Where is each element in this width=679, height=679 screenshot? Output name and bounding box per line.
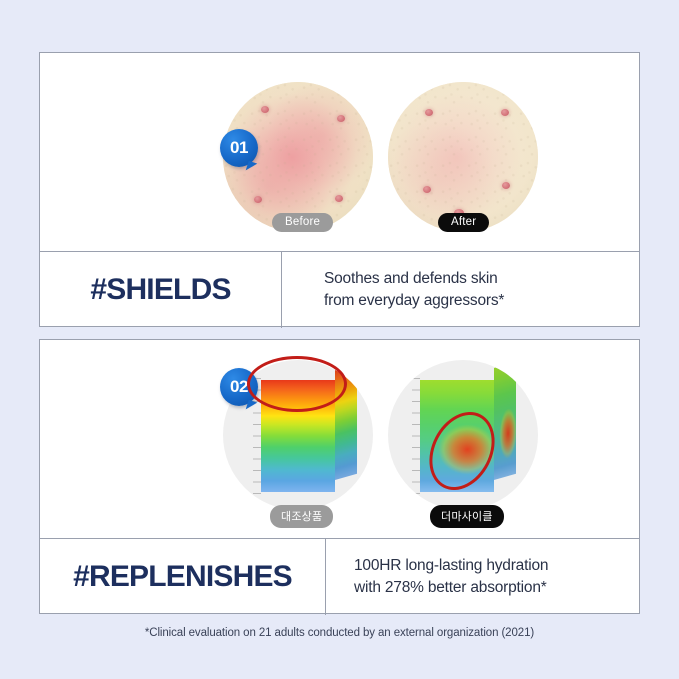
shields-description-cell: Soothes and defends skin from everyday a… xyxy=(282,252,639,328)
annotation-ellipse-control xyxy=(247,356,347,412)
replenishes-text-band: #REPLENISHES 100HR long-lasting hydratio… xyxy=(40,538,639,615)
skin-bump xyxy=(425,109,433,116)
shields-description-line2: from everyday aggressors* xyxy=(324,292,504,309)
shields-visual-area: 01 Before After xyxy=(40,53,639,251)
skin-bump xyxy=(502,182,510,189)
replenishes-hashtag-cell: #REPLENISHES xyxy=(40,539,326,615)
skin-photo-after xyxy=(388,82,538,232)
heat-box-side-face xyxy=(494,362,516,480)
thermal-axis-ticks-derma xyxy=(412,378,420,494)
replenishes-visual-area: 02 대조상품 xyxy=(40,340,639,538)
skin-bump xyxy=(337,115,345,122)
skin-bump xyxy=(423,186,431,193)
panel-replenishes: 02 대조상품 xyxy=(39,339,640,614)
image-label-control-product: 대조상품 xyxy=(270,505,333,528)
infographic-page: 01 Before After xyxy=(0,0,679,679)
skin-bump xyxy=(335,195,343,202)
shields-description: Soothes and defends skin from everyday a… xyxy=(324,268,504,312)
skin-bump xyxy=(501,109,509,116)
hashtag-replenishes: #REPLENISHES xyxy=(73,560,292,594)
replenishes-description: 100HR long-lasting hydration with 278% b… xyxy=(354,555,548,599)
image-label-before: Before xyxy=(272,213,333,232)
skin-bump xyxy=(254,196,262,203)
shields-hashtag-cell: #SHIELDS xyxy=(40,252,282,328)
replenishes-description-line1: 100HR long-lasting hydration xyxy=(354,557,548,574)
step-badge-01: 01 xyxy=(220,129,258,167)
shields-description-line1: Soothes and defends skin xyxy=(324,270,498,287)
clinical-footnote: *Clinical evaluation on 21 adults conduc… xyxy=(0,627,679,639)
replenishes-description-line2: with 278% better absorption* xyxy=(354,579,547,596)
thermal-image-derma xyxy=(388,360,538,510)
hashtag-shields: #SHIELDS xyxy=(90,273,230,307)
panel-shields: 01 Before After xyxy=(39,52,640,327)
skin-bump xyxy=(261,106,269,113)
skin-texture-after xyxy=(388,82,538,232)
image-label-after: After xyxy=(438,213,489,232)
image-label-derma-cycle: 더마사이클 xyxy=(430,505,504,528)
shields-text-band: #SHIELDS Soothes and defends skin from e… xyxy=(40,251,639,328)
replenishes-description-cell: 100HR long-lasting hydration with 278% b… xyxy=(326,539,639,615)
